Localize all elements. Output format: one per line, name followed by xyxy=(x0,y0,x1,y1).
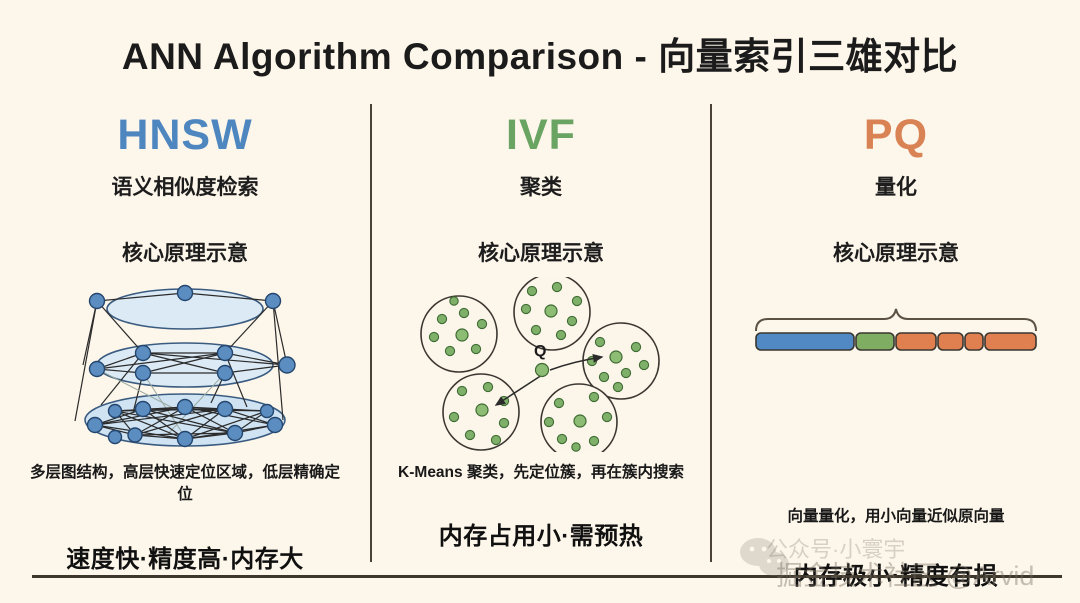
core-principle-label-pq: 核心原理示意 xyxy=(712,237,1080,267)
summary-ivf: 内存占用小·需预热 xyxy=(372,516,710,551)
diagram-pq-segmented-bar: .seg { stroke:#3a3630; stroke-width:1.6;… xyxy=(712,277,1080,452)
description-ivf: K-Means 聚类，先定位簇，再在簇内搜索 xyxy=(372,462,710,484)
column-title-hnsw: HNSW xyxy=(0,114,370,157)
slide-canvas: ANN Algorithm Comparison - 向量索引三雄对比 HNSW… xyxy=(0,0,1080,603)
footer-rule xyxy=(32,575,1062,578)
page-title: ANN Algorithm Comparison - 向量索引三雄对比 xyxy=(0,26,1080,80)
summary-hnsw: 速度快·精度高·内存大 xyxy=(0,539,370,574)
column-title-pq: PQ xyxy=(712,114,1080,157)
core-principle-label-ivf: 核心原理示意 xyxy=(372,237,710,267)
svg-text:Q: Q xyxy=(534,343,546,360)
column-subtitle-pq: 量化 xyxy=(712,171,1080,201)
column-ivf: IVF 聚类 核心原理示意 .cl { fill:#fbf5ea; stroke… xyxy=(372,104,710,574)
column-subtitle-hnsw: 语义相似度检索 xyxy=(0,171,370,201)
column-title-ivf: IVF xyxy=(372,114,710,157)
column-subtitle-ivf: 聚类 xyxy=(372,171,710,201)
summary-pq: 内存极小·精度有损 xyxy=(712,556,1080,591)
column-hnsw: HNSW 语义相似度检索 核心原理示意 .ell { fill:#dbeaf5;… xyxy=(0,104,370,574)
diagram-hnsw-layered-graph: .ell { fill:#dbeaf5; stroke:#3a5b80; str… xyxy=(0,277,370,452)
core-principle-label-hnsw: 核心原理示意 xyxy=(0,237,370,267)
description-hnsw: 多层图结构，高层快速定位区域，低层精确定位 xyxy=(0,462,370,507)
description-pq: 向量量化，用小向量近似原向量 xyxy=(712,506,1080,528)
diagram-ivf-clusters: .cl { fill:#fbf5ea; stroke:#3a3630; stro… xyxy=(372,277,710,452)
column-pq: PQ 量化 核心原理示意 .seg { stroke:#3a3630; stro… xyxy=(712,104,1080,574)
